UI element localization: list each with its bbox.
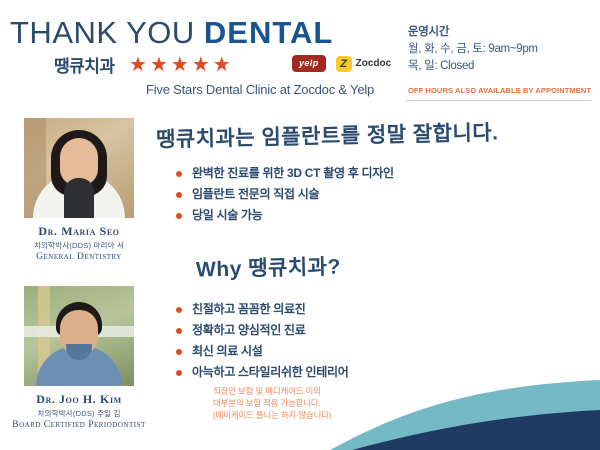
brand-name-korean: 땡큐치과 xyxy=(54,52,115,77)
hours-appointment-note: OFF HOURS ALSO AVAILABLE BY APPOINTMENT xyxy=(408,86,591,95)
doctor-photo xyxy=(24,118,134,218)
doctor-name: Dr. Maria Seo xyxy=(4,224,154,239)
wave-decoration xyxy=(0,370,600,450)
list-item: 최신 의료 시설 xyxy=(176,341,348,362)
header: THANK YOU DENTAL 땡큐치과 ★★★★★ yelp Z Zocdo… xyxy=(0,0,600,108)
list-item: 임플란트 전문의 직접 시술 xyxy=(176,184,394,205)
doctor-card: Dr. Maria Seo 치의학박사(DDS) 마리아 서 General D… xyxy=(4,118,154,262)
brand-wordmark: THANK YOU DENTAL xyxy=(10,16,395,50)
zocdoc-logo[interactable]: Z Zocdoc xyxy=(336,56,392,72)
list-item: 정확하고 양심적인 진료 xyxy=(176,320,348,341)
hours-weekday: 월, 화, 수, 금, 토: 9am~9pm xyxy=(408,41,598,58)
section-heading-why: Why 땡큐치과? xyxy=(196,250,341,283)
zocdoc-mark-icon: Z xyxy=(336,56,352,72)
header-divider xyxy=(405,100,591,101)
list-item: 당일 시술 가능 xyxy=(176,205,394,226)
flyer-canvas: THANK YOU DENTAL 땡큐치과 ★★★★★ yelp Z Zocdo… xyxy=(0,0,600,450)
wordmark-thank-you: THANK YOU xyxy=(10,15,195,50)
hours-title: 운영시간 xyxy=(408,24,598,41)
doctor-credential-korean: 치의학박사(DDS) 마리아 서 xyxy=(4,240,154,251)
zocdoc-label: Zocdoc xyxy=(356,58,392,69)
bullet-list-implant: 완벽한 진료를 위한 3D CT 촬영 후 디자인 임플란트 전문의 직접 시술… xyxy=(176,163,394,226)
wordmark-dental: DENTAL xyxy=(204,15,333,50)
hours-closed: 목, 일: Closed xyxy=(408,58,598,75)
star-rating-icon: ★★★★★ xyxy=(129,55,234,75)
section-heading-implant: 땡큐치과는 임플란트를 정말 잘합니다. xyxy=(156,116,499,153)
hours-block: 운영시간 월, 화, 수, 금, 토: 9am~9pm 목, 일: Closed xyxy=(408,24,598,75)
list-item: 친절하고 꼼꼼한 의료진 xyxy=(176,299,348,320)
clinic-tagline: Five Stars Dental Clinic at Zocdoc & Yel… xyxy=(146,82,374,97)
yelp-logo-icon[interactable]: yelp xyxy=(292,55,326,72)
doctor-specialty: General Dentistry xyxy=(4,252,154,262)
review-badges: yelp Z Zocdoc xyxy=(292,55,391,72)
list-item: 완벽한 진료를 위한 3D CT 촬영 후 디자인 xyxy=(176,163,394,184)
